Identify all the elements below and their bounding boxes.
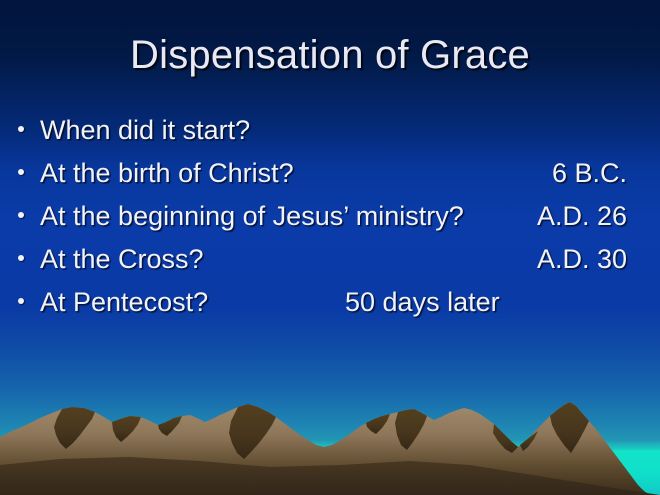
bullet-item: At the birth of Christ? 6 B.C. [0, 153, 660, 196]
bullet-dot-icon [18, 126, 24, 132]
bullet-question: At Pentecost? [40, 284, 208, 320]
bullet-answer: 50 days later [345, 284, 500, 320]
bullet-dot-icon [18, 255, 24, 261]
bullet-item: At the beginning of Jesus’ ministry? A.D… [0, 196, 660, 239]
presentation-slide: Dispensation of Grace When did it start?… [0, 0, 660, 495]
bullet-item: At the Cross? A.D. 30 [0, 239, 660, 282]
bullet-answer: A.D. 26 [537, 198, 627, 234]
bullet-question: At the beginning of Jesus’ ministry? [40, 198, 464, 234]
bullet-question: When did it start? [40, 112, 250, 148]
slide-bullet-list: When did it start? At the birth of Chris… [0, 110, 660, 325]
bullet-dot-icon [18, 212, 24, 218]
bullet-question: At the Cross? [40, 241, 204, 277]
mountain-range-silhouette [0, 395, 660, 495]
bullet-answer: 6 B.C. [552, 155, 627, 191]
slide-title: Dispensation of Grace [0, 30, 660, 80]
bullet-item: At Pentecost? 50 days later [0, 282, 660, 325]
bullet-question: At the birth of Christ? [40, 155, 294, 191]
bullet-answer: A.D. 30 [537, 241, 627, 277]
bullet-dot-icon [18, 298, 24, 304]
bullet-dot-icon [18, 169, 24, 175]
bullet-item: When did it start? [0, 110, 660, 153]
